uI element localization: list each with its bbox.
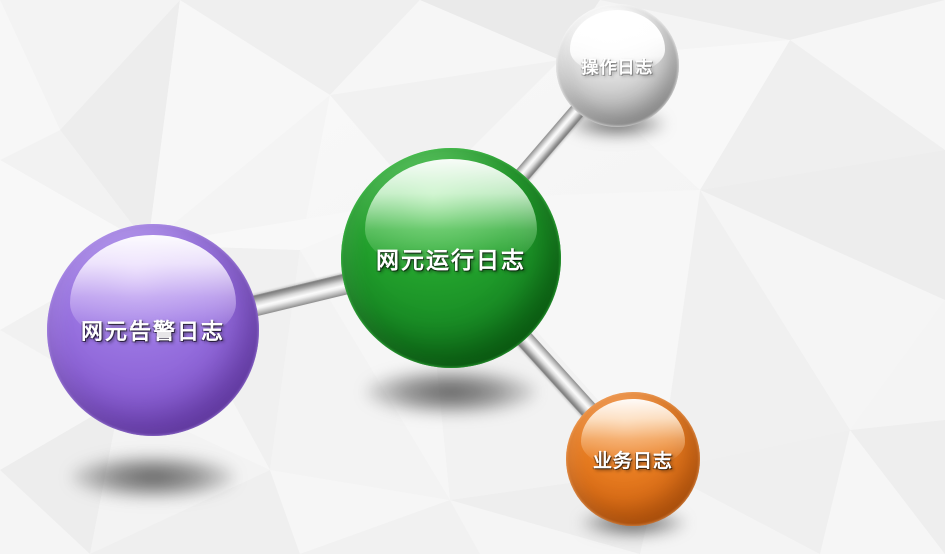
diagram-canvas: 网元告警日志 网元运行日志 操作日志 业务日志 bbox=[0, 0, 945, 554]
node-label-net-element-run-log: 网元运行日志 bbox=[376, 241, 526, 275]
node-net-element-alarm-log[interactable]: 网元告警日志 bbox=[47, 224, 259, 436]
shadow-alarm-sphere bbox=[71, 455, 235, 499]
node-business-log[interactable]: 业务日志 bbox=[566, 392, 700, 526]
node-net-element-run-log[interactable]: 网元运行日志 bbox=[341, 148, 561, 368]
node-label-operation-log: 操作日志 bbox=[582, 53, 654, 78]
node-label-net-element-alarm-log: 网元告警日志 bbox=[81, 314, 225, 346]
node-operation-log[interactable]: 操作日志 bbox=[556, 4, 679, 127]
node-label-business-log: 业务日志 bbox=[593, 446, 673, 473]
shadow-hub-sphere bbox=[366, 369, 536, 415]
